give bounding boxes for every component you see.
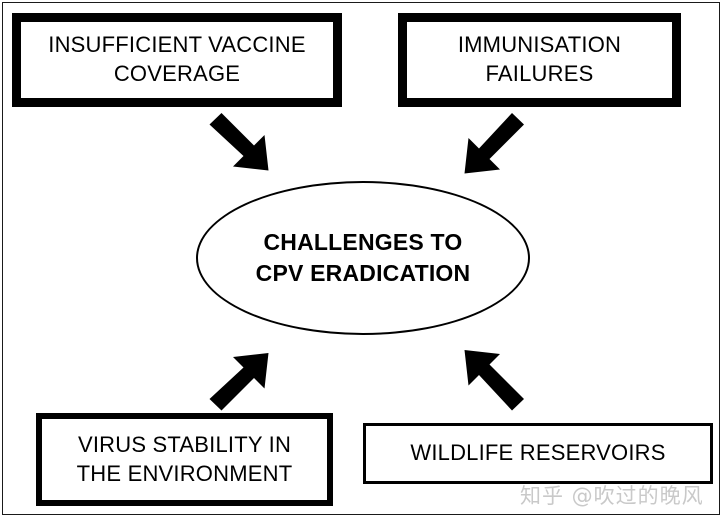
node-label: INSUFFICIENT VACCINE COVERAGE: [48, 31, 305, 88]
node-label: WILDLIFE RESERVOIRS: [410, 439, 665, 468]
center-node-challenges-to-cpv-eradication: CHALLENGES TO CPV ERADICATION: [196, 181, 530, 335]
node-wildlife-reservoirs: WILDLIFE RESERVOIRS: [363, 423, 713, 484]
watermark: 知乎 @吹过的晚风: [520, 480, 704, 510]
node-label: IMMUNISATION FAILURES: [458, 31, 621, 88]
node-insufficient-vaccine-coverage: INSUFFICIENT VACCINE COVERAGE: [12, 13, 342, 107]
arrow-bottom-right-to-center: [452, 348, 522, 412]
node-virus-stability-in-the-environment: VIRUS STABILITY IN THE ENVIRONMENT: [36, 413, 333, 506]
node-immunisation-failures: IMMUNISATION FAILURES: [398, 13, 681, 107]
diagram-canvas: INSUFFICIENT VACCINE COVERAGE IMMUNISATI…: [0, 0, 723, 518]
arrow-top-right-to-center: [447, 112, 517, 176]
node-label: VIRUS STABILITY IN THE ENVIRONMENT: [77, 431, 293, 488]
center-node-label: CHALLENGES TO CPV ERADICATION: [256, 227, 471, 288]
arrow-top-left-to-center: [205, 112, 275, 176]
arrow-bottom-left-to-center: [205, 348, 275, 412]
